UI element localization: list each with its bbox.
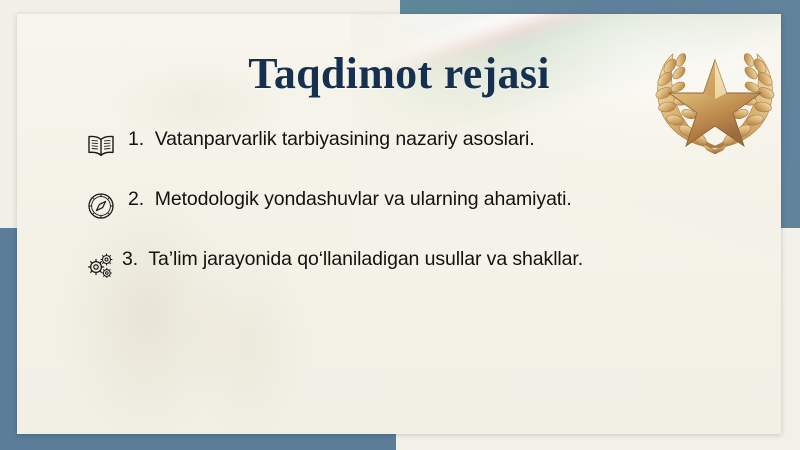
compass-icon (80, 188, 122, 224)
gears-icon (80, 248, 122, 284)
list-item-number: 2. (128, 188, 149, 210)
list-item-number: 1. (128, 128, 149, 150)
open-book-icon (80, 128, 122, 164)
list-item-number: 3. (122, 248, 143, 270)
list-item-text: 3. Ta’lim jarayonida qo‘llaniladigan usu… (122, 246, 583, 273)
presentation-slide: Taqdimot rejasi 1. Vatanparvarlik tarbiy… (0, 0, 800, 450)
slide-content-card: Taqdimot rejasi 1. Vatanparvarlik tarbiy… (17, 14, 781, 434)
list-item: 1. Vatanparvarlik tarbiyasining nazariy … (80, 126, 740, 164)
agenda-list: 1. Vatanparvarlik tarbiyasining nazariy … (80, 126, 740, 306)
list-item-text: 1. Vatanparvarlik tarbiyasining nazariy … (122, 126, 535, 153)
list-item: 3. Ta’lim jarayonida qo‘llaniladigan usu… (80, 246, 740, 284)
list-item-label: Ta’lim jarayonida qo‘llaniladigan usulla… (148, 248, 583, 270)
list-item-label: Metodologik yondashuvlar va ularning aha… (155, 188, 572, 210)
list-item: 2. Metodologik yondashuvlar va ularning … (80, 186, 740, 224)
list-item-text: 2. Metodologik yondashuvlar va ularning … (122, 186, 572, 213)
slide-title: Taqdimot rejasi (17, 48, 781, 99)
list-item-label: Vatanparvarlik tarbiyasining nazariy aso… (155, 128, 535, 150)
